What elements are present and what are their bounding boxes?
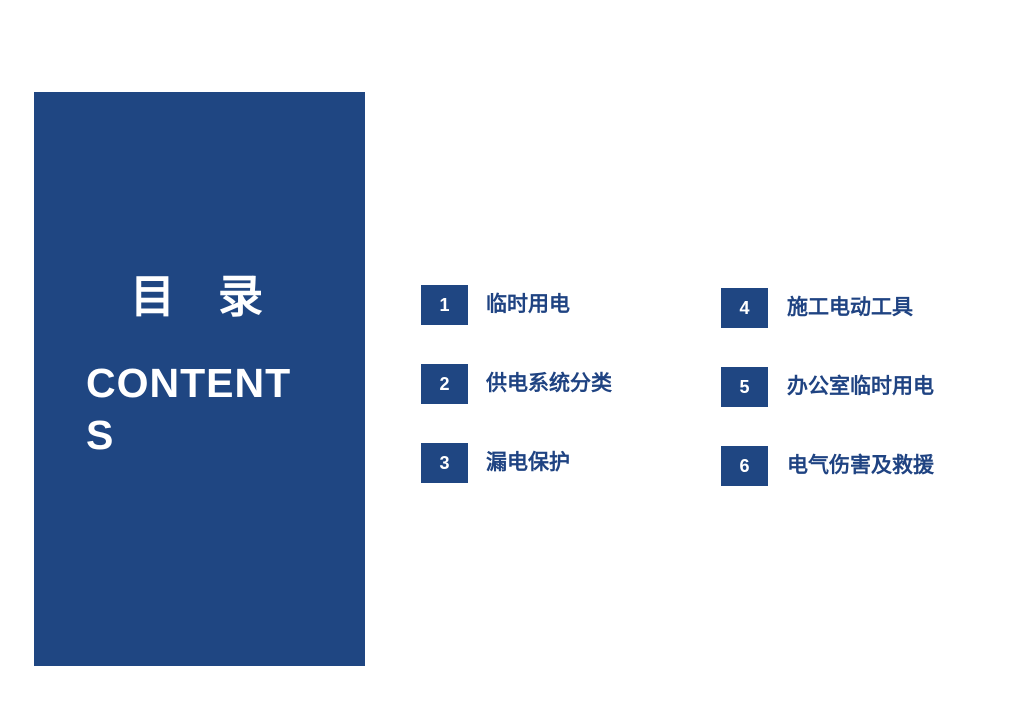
- toc-item-label-6: 电气伤害及救援: [787, 446, 934, 486]
- toc-item-6[interactable]: 6 电气伤害及救援: [721, 446, 934, 486]
- toc-item-label-3: 漏电保护: [486, 443, 570, 483]
- toc-number-badge-2: 2: [421, 364, 468, 404]
- toc-number-badge-4: 4: [721, 288, 768, 328]
- toc-item-1[interactable]: 1 临时用电: [421, 285, 612, 325]
- toc-number-badge-3: 3: [421, 443, 468, 483]
- toc-item-2[interactable]: 2 供电系统分类: [421, 364, 612, 404]
- toc-item-5[interactable]: 5 办公室临时用电: [721, 367, 934, 407]
- toc-item-label-4: 施工电动工具: [787, 288, 913, 328]
- toc-column-left: 1 临时用电 2 供电系统分类 3 漏电保护: [421, 285, 612, 483]
- toc-number-badge-5: 5: [721, 367, 768, 407]
- toc-column-right: 4 施工电动工具 5 办公室临时用电 6 电气伤害及救援: [721, 288, 934, 486]
- toc-item-label-1: 临时用电: [486, 285, 570, 325]
- toc-item-label-2: 供电系统分类: [486, 364, 612, 404]
- toc-item-label-5: 办公室临时用电: [787, 367, 934, 407]
- toc-entry-columns: 1 临时用电 2 供电系统分类 3 漏电保护 4 施工电动工具 5 办公室临时用…: [0, 0, 1024, 724]
- toc-item-4[interactable]: 4 施工电动工具: [721, 288, 934, 328]
- toc-number-badge-6: 6: [721, 446, 768, 486]
- toc-number-badge-1: 1: [421, 285, 468, 325]
- toc-slide: 目 录 CONTENTS 1 临时用电 2 供电系统分类 3 漏电保护 4 施工…: [0, 0, 1024, 724]
- toc-item-3[interactable]: 3 漏电保护: [421, 443, 612, 483]
